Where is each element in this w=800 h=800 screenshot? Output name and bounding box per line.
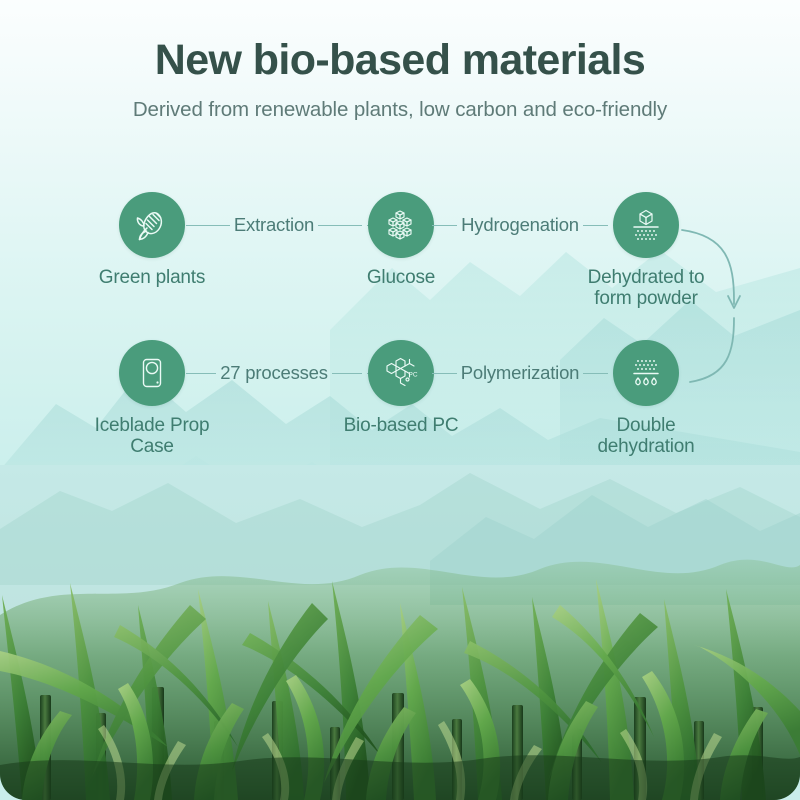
connector-line-left [186,225,230,226]
double-dehydration-icon [613,340,679,406]
flow-node-green-plants[interactable]: Green plants [77,192,227,288]
poster-header: New bio-based materials Derived from ren… [0,0,800,123]
svg-text:PC: PC [409,372,418,379]
page-title: New bio-based materials [0,0,800,86]
flow-node-glucose[interactable]: Glucose [326,192,476,288]
powder-cube-icon [613,192,679,258]
glucose-cubes-icon [368,192,434,258]
flow-node-label: Double dehydration [571,415,721,457]
flow-node-dehydrated-powder[interactable]: Dehydrated to form powder [571,192,721,309]
flow-node-label: Iceblade Prop Case [77,415,227,457]
flow-node-label: Green plants [77,267,227,288]
flow-node-label: Glucose [326,267,476,288]
flow-node-double-dehydration[interactable]: Double dehydration [571,340,721,457]
connector-label: Polymerization [457,363,584,383]
connector-line-left [432,225,457,226]
bio-based-materials-poster: New bio-based materials Derived from ren… [0,0,800,800]
flow-node-label: Bio-based PC [326,415,476,436]
connector-label: Hydrogenation [457,215,583,235]
phone-case-icon [119,340,185,406]
connector-line-left [432,373,457,374]
connector-label: Extraction [230,215,318,235]
flow-node-bio-based-pc[interactable]: PC Bio-based PC [326,340,476,436]
corn-icon [119,192,185,258]
flow-node-iceblade-prop-case[interactable]: Iceblade Prop Case [77,340,227,457]
flow-node-label: Dehydrated to form powder [571,267,721,309]
connector-line-left [186,373,216,374]
page-subtitle: Derived from renewable plants, low carbo… [0,86,800,123]
connector-label: 27 processes [216,363,332,383]
molecule-pc-icon: PC [368,340,434,406]
sugarcane-field-photo [0,465,800,800]
